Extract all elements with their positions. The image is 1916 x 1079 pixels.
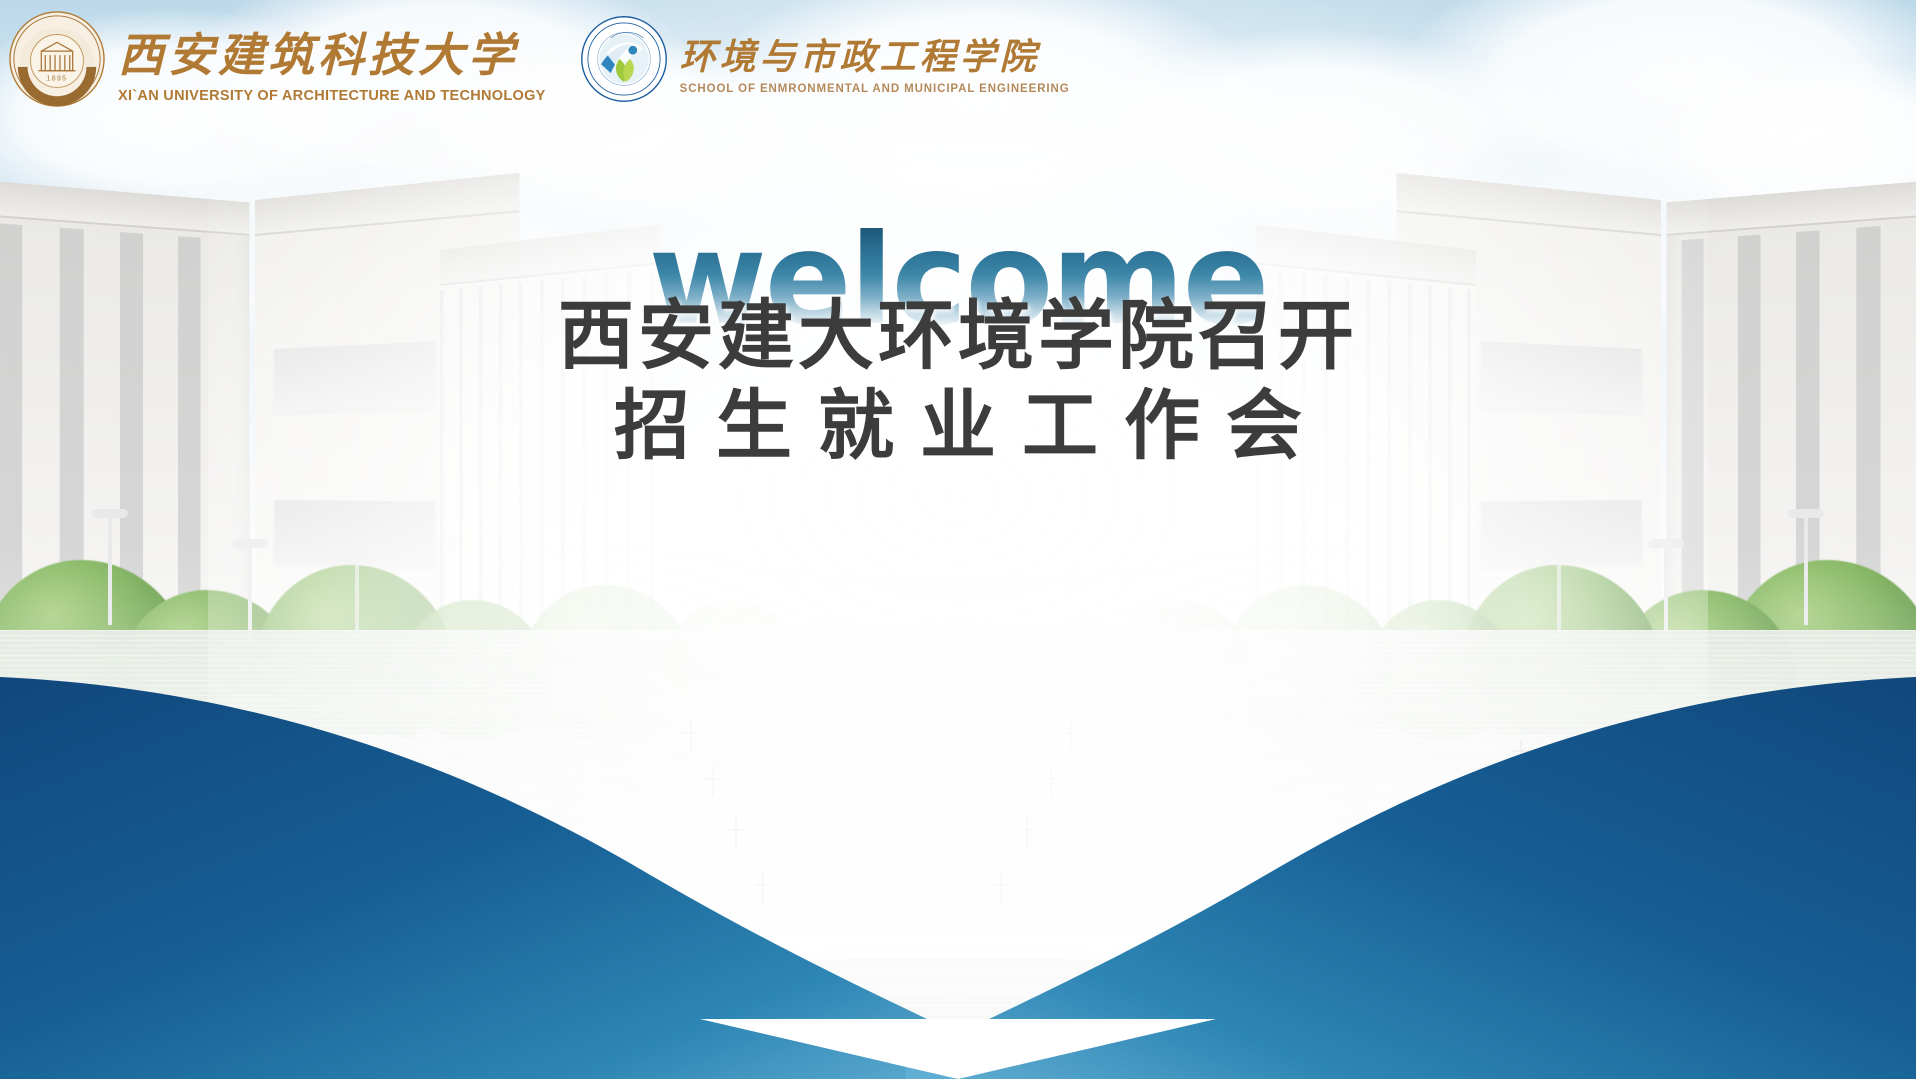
page-title: 西安建大环境学院召开 招生就业工作会 [0, 291, 1916, 470]
wave-left-shape [0, 677, 1010, 1079]
school-logo-text: 环境与市政工程学院 SCHOOL OF ENMRONMENTAL AND MUN… [680, 28, 1070, 95]
university-logo[interactable]: 1895 西安建筑科技大学 XI`AN UNIVERSITY OF ARCHIT… [8, 10, 546, 113]
title-line-1: 西安建大环境学院召开 [0, 291, 1916, 381]
school-name-cn: 环境与市政工程学院 [680, 28, 1070, 80]
school-name-en: SCHOOL OF ENMRONMENTAL AND MUNICIPAL ENG… [680, 83, 1070, 95]
university-name-cn: 西安建筑科技大学 [118, 19, 546, 85]
university-name-en: XI`AN UNIVERSITY OF ARCHITECTURE AND TEC… [118, 88, 546, 104]
university-seal-icon: 1895 [8, 10, 106, 113]
school-logo[interactable]: 环境与市政工程学院 SCHOOL OF ENMRONMENTAL AND MUN… [580, 15, 1070, 108]
banner-title-block: welcome 西安建大环境学院召开 招生就业工作会 [0, 228, 1916, 470]
street-lamp-icon [108, 515, 112, 625]
university-logo-text: 西安建筑科技大学 XI`AN UNIVERSITY OF ARCHITECTUR… [118, 19, 546, 104]
svg-text:1895: 1895 [47, 76, 68, 83]
header-logos: 1895 西安建筑科技大学 XI`AN UNIVERSITY OF ARCHIT… [0, 0, 1070, 113]
poster-canvas: 1895 西安建筑科技大学 XI`AN UNIVERSITY OF ARCHIT… [0, 0, 1916, 1079]
bottom-wave-decoration [0, 619, 1916, 1079]
building-cornice [1397, 173, 1661, 236]
building-cornice [255, 173, 519, 236]
wave-right-shape [906, 677, 1916, 1079]
street-lamp-icon [1804, 515, 1808, 625]
school-seal-icon [580, 15, 668, 108]
title-line-2: 招生就业工作会 [0, 381, 1916, 471]
